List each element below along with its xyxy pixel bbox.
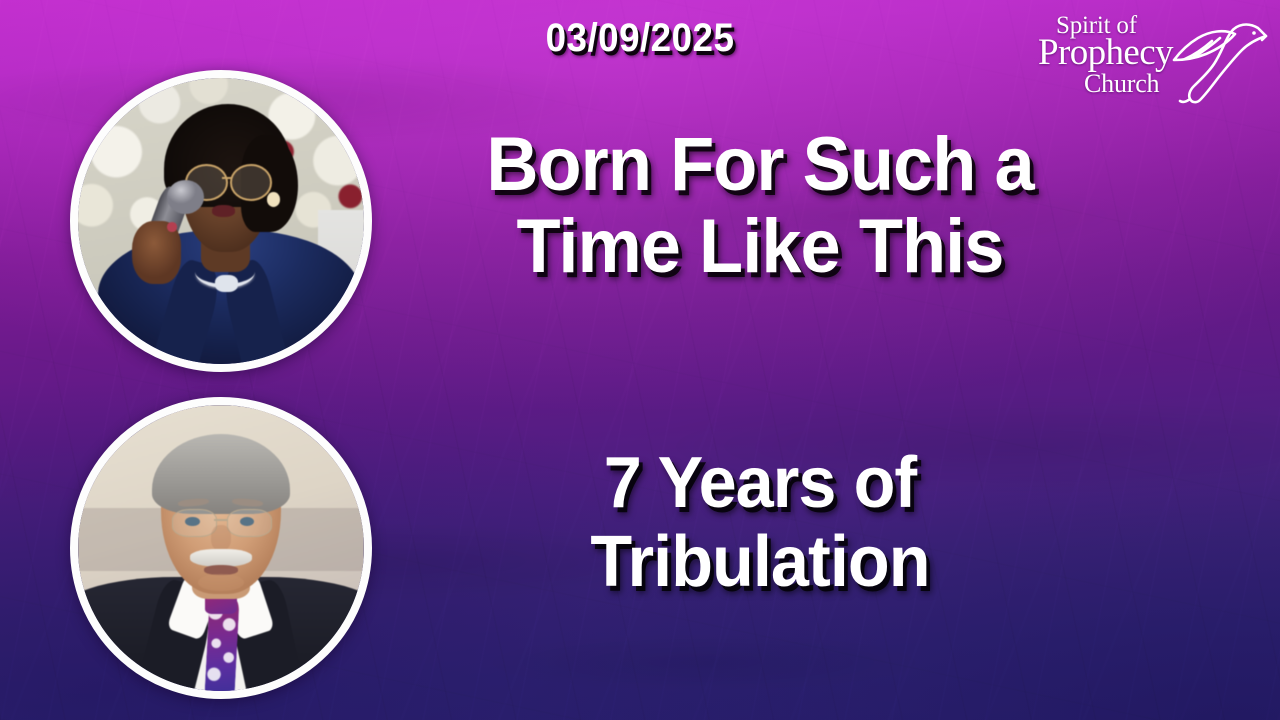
sermon-subtitle-line-2: Tribulation	[409, 526, 1112, 599]
dove-icon	[1140, 12, 1270, 108]
speaker-portrait-woman	[70, 70, 372, 372]
sermon-subtitle-line-1: 7 Years of	[409, 447, 1112, 520]
speaker-portrait-man	[70, 397, 372, 699]
sermon-title-line-2: Time Like This	[409, 208, 1112, 286]
earring	[267, 192, 280, 206]
sermon-title-card: 03/09/2025 Spirit of Prophecy Church	[0, 0, 1280, 720]
church-logo: Spirit of Prophecy Church	[1036, 8, 1266, 112]
woman-glasses-right	[230, 164, 273, 201]
white-mustache	[190, 549, 253, 566]
speaker-woman-photo	[78, 78, 364, 364]
dove-eye	[1252, 31, 1256, 35]
speaker-man-photo	[78, 405, 364, 691]
sermon-subtitle: 7 Years of Tribulation	[409, 447, 1112, 600]
sermon-title-line-1: Born For Such a	[409, 126, 1112, 204]
sermon-title: Born For Such a Time Like This	[409, 126, 1112, 285]
man-glasses-right	[227, 509, 272, 537]
